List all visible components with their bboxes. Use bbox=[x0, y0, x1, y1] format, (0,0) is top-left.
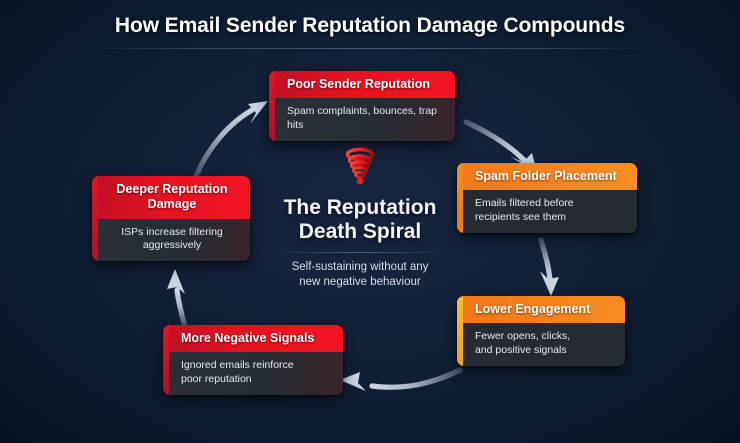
infographic-canvas: How Email Sender Reputation Damage Compo… bbox=[0, 0, 740, 443]
node-spam-folder-placement[interactable]: Spam Folder Placement Emails filtered be… bbox=[457, 163, 637, 233]
node-title: Poor Sender Reputation bbox=[269, 71, 455, 98]
node-description: ISPs increase filtering aggressively bbox=[92, 219, 250, 262]
hub-subtitle-line: new negative behaviour bbox=[255, 275, 465, 290]
node-accent-bar bbox=[457, 163, 463, 233]
arrow-lower-to-negative bbox=[340, 370, 460, 391]
node-more-negative-signals[interactable]: More Negative Signals Ignored emails rei… bbox=[163, 325, 343, 395]
node-description-line: Ignored emails reinforce bbox=[181, 359, 331, 373]
node-title: Lower Engagement bbox=[457, 296, 625, 323]
page-title: How Email Sender Reputation Damage Compo… bbox=[0, 14, 740, 37]
node-description: Fewer opens, clicks, and positive signal… bbox=[457, 323, 625, 366]
node-description-line: Spam complaints, bounces, trap hits bbox=[287, 105, 443, 133]
node-description-line: poor reputation bbox=[181, 373, 331, 387]
node-poor-sender-reputation[interactable]: Poor Sender Reputation Spam complaints, … bbox=[269, 71, 455, 141]
node-description-line: ISPs increase filtering bbox=[106, 226, 238, 240]
node-description: Spam complaints, bounces, trap hits bbox=[269, 98, 455, 141]
node-description-line: Fewer opens, clicks, bbox=[475, 330, 613, 344]
node-description: Emails filtered before recipients see th… bbox=[457, 190, 637, 233]
node-title-line: Deeper Reputation bbox=[106, 182, 238, 197]
node-accent-bar bbox=[457, 296, 463, 366]
node-title-line: Damage bbox=[106, 197, 238, 212]
hub-subtitle-line: Self-sustaining without any bbox=[255, 260, 465, 275]
node-description-line: aggressively bbox=[106, 239, 238, 253]
node-lower-engagement[interactable]: Lower Engagement Fewer opens, clicks, an… bbox=[457, 296, 625, 366]
hub-divider bbox=[274, 252, 446, 253]
hub-title-line: The Reputation bbox=[255, 196, 465, 220]
node-description-line: recipients see them bbox=[475, 211, 625, 225]
node-accent-bar bbox=[92, 176, 98, 261]
node-description-line: Emails filtered before bbox=[475, 197, 625, 211]
arrow-negative-to-deeper bbox=[167, 269, 185, 327]
node-description-line: and positive signals bbox=[475, 344, 613, 358]
arrow-spam-to-lower bbox=[540, 240, 559, 296]
title-area: How Email Sender Reputation Damage Compo… bbox=[0, 14, 740, 49]
node-accent-bar bbox=[163, 325, 169, 395]
title-divider bbox=[92, 48, 648, 49]
hub-subtitle: Self-sustaining without any new negative… bbox=[255, 260, 465, 291]
node-title: Spam Folder Placement bbox=[457, 163, 637, 190]
hub-title: The Reputation Death Spiral bbox=[255, 196, 465, 243]
center-hub: The Reputation Death Spiral Self-sustain… bbox=[255, 146, 465, 291]
node-description: Ignored emails reinforce poor reputation bbox=[163, 352, 343, 395]
node-deeper-reputation-damage[interactable]: Deeper Reputation Damage ISPs increase f… bbox=[92, 176, 250, 261]
node-title: Deeper Reputation Damage bbox=[92, 176, 250, 219]
tornado-icon bbox=[338, 146, 382, 190]
hub-title-line: Death Spiral bbox=[255, 220, 465, 244]
node-accent-bar bbox=[269, 71, 275, 141]
node-title: More Negative Signals bbox=[163, 325, 343, 352]
